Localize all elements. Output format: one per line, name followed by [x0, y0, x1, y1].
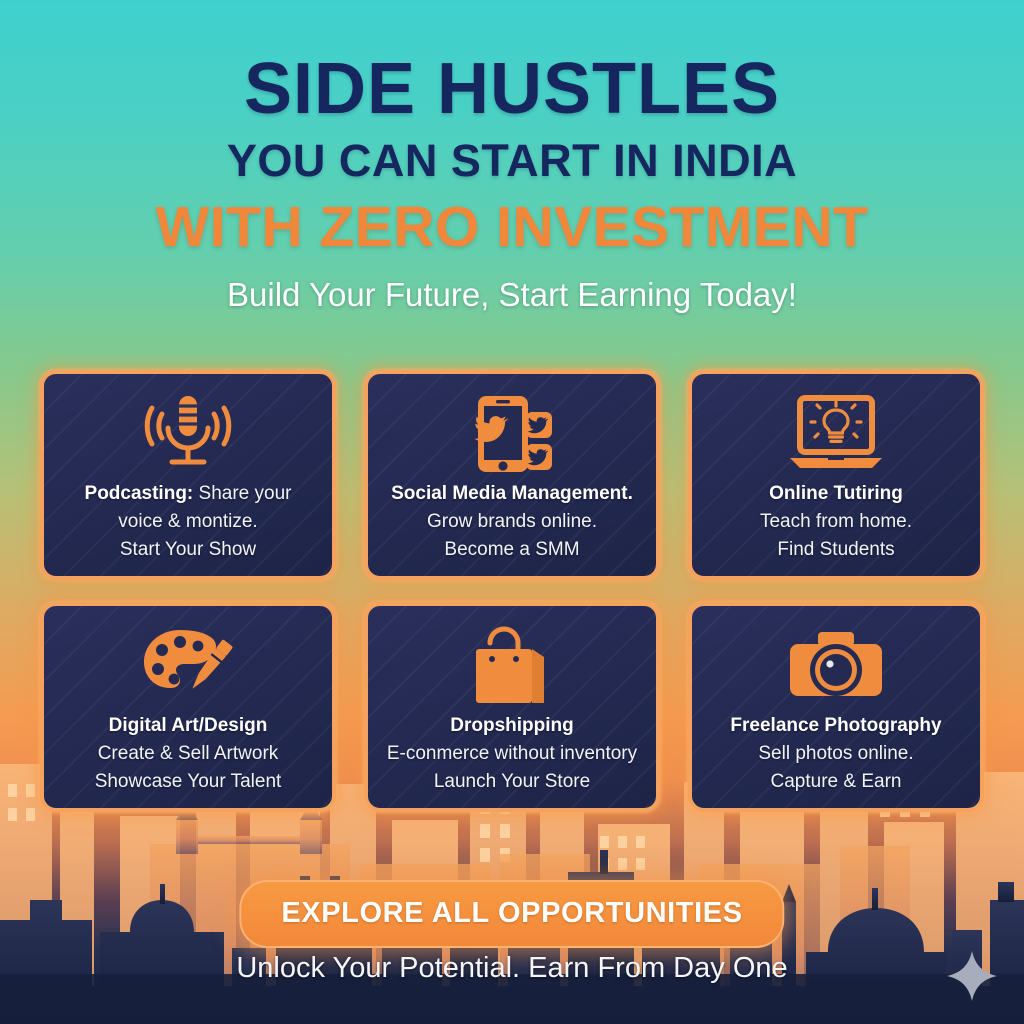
card-line2: Teach from home. [704, 508, 968, 536]
card-line2: E-conmerce without inventory [380, 740, 644, 768]
card-text-online-tutoring: Online Tutiring Teach from home. Find St… [692, 480, 980, 564]
social-media-phone-icon [368, 388, 656, 480]
card-line2: voice & montize. [56, 508, 320, 536]
card-line3: Showcase Your Talent [56, 768, 320, 796]
card-dropshipping[interactable]: Dropshipping E-conmerce without inventor… [364, 602, 660, 812]
poster-header: SIDE HUSTLES YOU CAN START IN INDIA WITH… [0, 0, 1024, 312]
card-heading: Podcasting: [85, 483, 194, 504]
card-text-social-media-management: Social Media Management. Grow brands onl… [368, 480, 656, 564]
card-line3: Become a SMM [380, 536, 644, 564]
sparkle-icon [944, 948, 1000, 1004]
card-line3: Capture & Earn [704, 768, 968, 796]
card-social-media-management[interactable]: Social Media Management. Grow brands onl… [364, 370, 660, 580]
infographic-poster: SIDE HUSTLES YOU CAN START IN INDIA WITH… [0, 0, 1024, 1024]
microphone-icon [44, 388, 332, 480]
card-line1-rest: Share your [193, 483, 291, 504]
card-line2: Grow brands online. [380, 508, 644, 536]
card-text-freelance-photography: Freelance Photography Sell photos online… [692, 712, 980, 796]
card-podcasting[interactable]: Podcasting: Share your voice & montize. … [40, 370, 336, 580]
camera-icon [692, 620, 980, 712]
card-text-digital-art-design: Digital Art/Design Create & Sell Artwork… [44, 712, 332, 796]
card-line3: Start Your Show [56, 536, 320, 564]
page-title-line2: YOU CAN START IN INDIA [0, 126, 1024, 184]
card-line3: Launch Your Store [380, 768, 644, 796]
footer-tagline: Unlock Your Potential. Earn From Day One [0, 952, 1024, 984]
card-heading: Online Tutiring [769, 483, 903, 504]
card-heading: Digital Art/Design [109, 715, 268, 736]
card-line3: Find Students [704, 536, 968, 564]
page-title-line3: WITH ZERO INVESTMENT [0, 184, 1024, 256]
card-text-podcasting: Podcasting: Share your voice & montize. … [44, 480, 332, 564]
side-hustle-card-grid: Podcasting: Share your voice & montize. … [40, 370, 984, 812]
explore-all-opportunities-button[interactable]: EXPLORE ALL OPPORTUNITIES [239, 880, 784, 948]
card-freelance-photography[interactable]: Freelance Photography Sell photos online… [688, 602, 984, 812]
card-line2: Create & Sell Artwork [56, 740, 320, 768]
card-heading: Dropshipping [450, 715, 573, 736]
card-heading: Freelance Photography [730, 715, 941, 736]
page-title-line1: SIDE HUSTLES [0, 0, 1024, 126]
paint-palette-icon [44, 620, 332, 712]
card-line2: Sell photos online. [704, 740, 968, 768]
page-subtitle: Build Your Future, Start Earning Today! [0, 256, 1024, 312]
shopping-bag-icon [368, 620, 656, 712]
laptop-lightbulb-icon [692, 388, 980, 480]
card-digital-art-design[interactable]: Digital Art/Design Create & Sell Artwork… [40, 602, 336, 812]
card-text-dropshipping: Dropshipping E-conmerce without inventor… [368, 712, 656, 796]
card-heading: Social Media Management. [391, 483, 633, 504]
card-online-tutoring[interactable]: Online Tutiring Teach from home. Find St… [688, 370, 984, 580]
